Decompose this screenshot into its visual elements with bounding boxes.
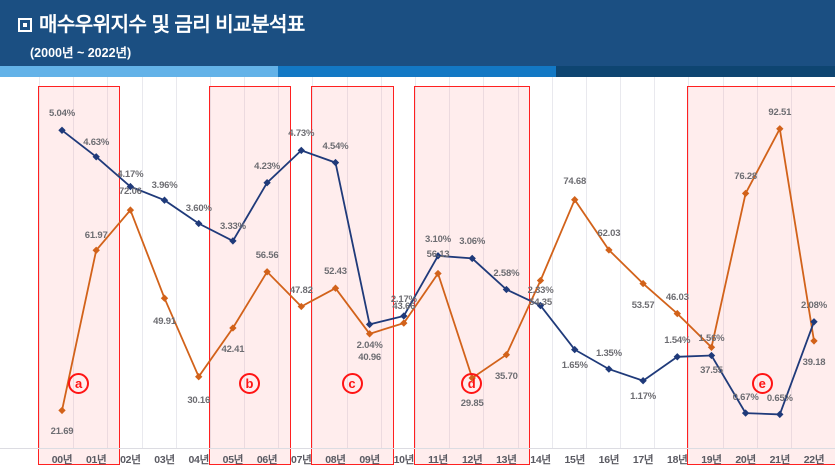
page-header: 매수우위지수 및 금리 비교분석표 (2000년 ~ 2022년) [0,0,835,66]
data-label: 56.56 [241,250,293,261]
page-title-text: 매수우위지수 및 금리 비교분석표 [39,14,305,36]
data-label: 35.70 [480,371,532,382]
data-point [708,352,715,359]
data-label: 52.43 [309,266,361,277]
accent-segment-3 [556,66,835,77]
data-point [332,159,339,166]
data-point [776,411,783,418]
data-label: 3.06% [446,236,498,247]
x-axis: 00년01년02년03년04년05년06년07년08년09년10년11년12년1… [0,448,835,471]
filled-square-icon [18,18,32,32]
data-label: 46.03 [651,292,703,303]
data-label: 39.18 [788,357,835,368]
data-label: 4.23% [241,161,293,172]
data-label: 54.35 [515,297,567,308]
data-label: 4.54% [309,141,361,152]
data-label: 1.35% [583,348,635,359]
data-label: 92.51 [754,107,806,118]
data-label: 21.69 [36,426,88,437]
accent-bar [0,66,835,77]
data-point [161,295,168,302]
data-label: 4.73% [275,128,327,139]
data-label: 49.91 [139,316,191,327]
data-point [742,409,749,416]
accent-segment-1 [0,66,278,77]
data-point [537,277,544,284]
data-label: 5.04% [36,108,88,119]
band-badge-e: e [752,373,773,394]
data-label: 62.03 [583,228,635,239]
data-label: 2.58% [480,268,532,279]
x-axis-label-22: 22년 [791,452,835,467]
data-label: 1.56% [685,333,737,344]
data-label: 42.41 [207,344,259,355]
data-label: 1.65% [549,360,601,371]
data-label: 74.68 [549,176,601,187]
page-subtitle: (2000년 ~ 2022년) [30,42,131,61]
series-lines [0,77,835,471]
data-label: 40.96 [344,352,396,363]
plot-area: 21.6961.9772.0649.9130.1642.4156.5647.82… [0,77,835,471]
data-point [776,125,783,132]
data-label: 2.33% [515,285,567,296]
data-point [229,237,236,244]
data-label: 4.17% [104,169,156,180]
data-label: 30.16 [173,395,225,406]
data-point [605,365,612,372]
data-label: 1.17% [617,391,669,402]
data-label: 3.33% [207,221,259,232]
data-label: 47.82 [275,285,327,296]
band-badge-c: c [342,373,363,394]
data-label: 56.13 [412,249,464,260]
data-label: 2.17% [378,294,430,305]
data-label: 2.08% [788,300,835,311]
data-label: 3.96% [139,180,191,191]
data-label: 76.28 [720,171,772,182]
accent-segment-2 [278,66,556,77]
comparison-line-chart: 21.6961.9772.0649.9130.1642.4156.5647.82… [0,77,835,471]
page-title: 매수우위지수 및 금리 비교분석표 [18,8,305,37]
data-label: 4.63% [70,137,122,148]
band-badge-b: b [239,373,260,394]
data-label: 61.97 [70,230,122,241]
data-label: 0.65% [754,393,806,404]
data-label: 3.60% [173,203,225,214]
data-label: 29.85 [446,398,498,409]
data-point [810,337,817,344]
data-point [742,190,749,197]
data-label: 37.55 [685,365,737,376]
data-label: 2.04% [344,340,396,351]
band-badge-a: a [68,373,89,394]
data-point [366,321,373,328]
data-point [58,407,65,414]
